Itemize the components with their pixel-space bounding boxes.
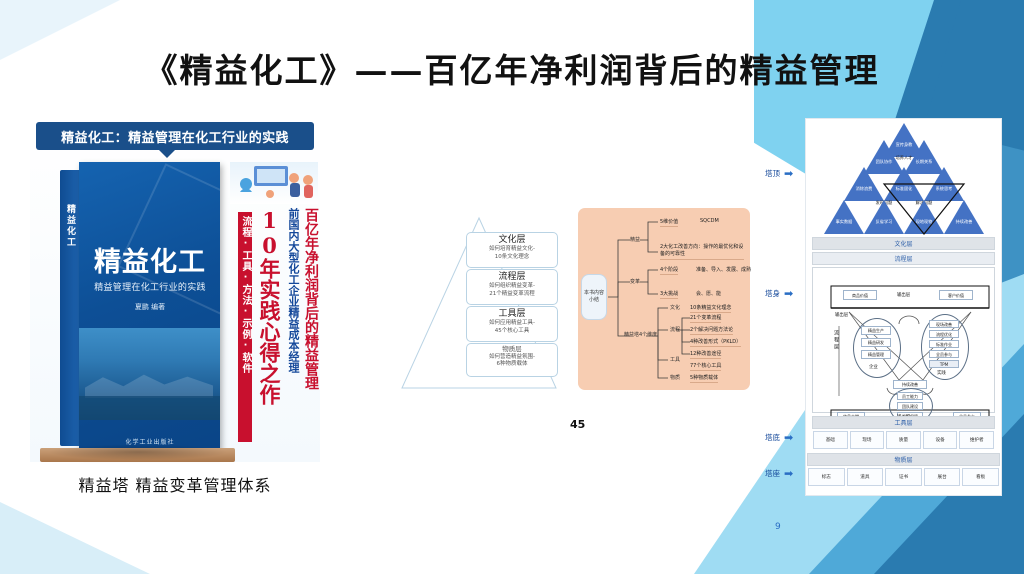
mindmap-sub-process: 流程 bbox=[670, 326, 680, 333]
mindmap-sub-material: 物质 bbox=[670, 374, 680, 381]
banner-notch-icon bbox=[158, 149, 176, 158]
book-spine-text: 精益化工 bbox=[62, 204, 78, 248]
tool-cell: 设备 bbox=[923, 431, 958, 449]
arrow-right-icon: ➡ bbox=[784, 168, 793, 179]
tower-side-label-base: 塔底 ➡ bbox=[765, 432, 793, 443]
tower-side-label-body: 塔身 ➡ bbox=[765, 288, 793, 299]
material-cell: 展台 bbox=[924, 468, 961, 486]
process-vertical-label: 流程层 bbox=[833, 330, 840, 392]
mindmap-branch-lean: 精益 bbox=[630, 236, 640, 243]
tower-side-label-text: 塔座 bbox=[765, 468, 780, 479]
arrow-right-icon: ➡ bbox=[784, 432, 793, 443]
tower-band-material: 物质层 bbox=[807, 453, 1000, 466]
pyramid-layer-line1: 如何应用精益工具- bbox=[468, 320, 556, 328]
tower-process-panel: 商品价值 输出层 客户价值 输出层 精益生产 精益研发 精益管理 企业 现场改善… bbox=[812, 267, 995, 413]
tower-band-tools: 工具层 bbox=[812, 416, 995, 429]
process-top-box-2: 客户价值 bbox=[939, 290, 973, 300]
mindmap-leaf-challenges-detail: 会、愿、能 bbox=[696, 290, 721, 298]
pyramid-layer-title: 流程层 bbox=[468, 272, 556, 283]
process-left-ellipse-title: 企业 bbox=[869, 364, 878, 370]
tower-tool-row: 基础 现场 质量 设备 维护者 bbox=[812, 431, 995, 449]
pyramid-layer-material: 物质层 如何营造精益氛围- 6种物质载体 bbox=[466, 343, 558, 377]
process-top-box-1: 商品价值 bbox=[843, 290, 877, 300]
process-right-item-1: 现场改善 bbox=[929, 320, 959, 328]
promo-red-column: 百亿年净利润背后的精益管理 bbox=[304, 208, 318, 448]
tower-side-label-text: 塔身 bbox=[765, 288, 780, 299]
mindmap-branch-tower: 精益塔4个维度 bbox=[624, 332, 658, 338]
mindmap-leaf-process-3: 4种改善形式（PKLD） bbox=[690, 338, 741, 347]
mindmap-leaf-value-detail: SQCDM bbox=[700, 218, 719, 225]
book-cover-title: 精益化工 bbox=[87, 240, 213, 279]
mindmap-sub-tools: 工具 bbox=[670, 356, 680, 363]
pyramid-layer-line2: 45个核心工具 bbox=[468, 328, 556, 336]
tower-material-row: 标志 道具 证书 展台 看板 bbox=[807, 468, 1000, 486]
page-number-book: 45 bbox=[570, 418, 585, 431]
tool-cell: 质量 bbox=[886, 431, 921, 449]
process-right-item-2: 流程优化 bbox=[929, 330, 959, 338]
book-cover: 精益化工 精益管理在化工行业的实践 夏鹏 编著 化学工业出版社 bbox=[79, 162, 220, 454]
process-right-item-4: 全员参与 bbox=[929, 350, 959, 358]
process-left-item-2: 精益研发 bbox=[861, 338, 891, 347]
mindmap-sub-culture: 文化 bbox=[670, 304, 680, 311]
mindmap-leaf-tools: 77个核心工具 bbox=[690, 362, 721, 371]
promo-headline: 10年实践心得之作 bbox=[259, 208, 280, 446]
mindmap-branch-change: 变革 bbox=[630, 278, 640, 285]
book-cover-author: 夏鹏 编著 bbox=[85, 302, 215, 312]
book-caption: 精益塔 精益变革管理体系 bbox=[30, 472, 320, 496]
process-right-item-5: TPM bbox=[929, 360, 959, 368]
promo-tag-box: 流程·工具·方法·示例·软件 bbox=[238, 212, 252, 442]
mindmap-leaf-stages-detail: 准备、导入、发展、成熟 bbox=[696, 266, 751, 274]
process-bottom-item-2: 团队建设 bbox=[897, 402, 923, 410]
material-cell: 道具 bbox=[847, 468, 884, 486]
book-spine: 精益化工 bbox=[60, 170, 80, 446]
material-cell: 证书 bbox=[885, 468, 922, 486]
tower-band-culture: 文化层 bbox=[812, 237, 995, 250]
mindmap-leaf-culture: 10条精益文化理念 bbox=[690, 304, 731, 313]
material-cell: 看板 bbox=[962, 468, 999, 486]
pyramid-layer-line1: 如何营造精益氛围- bbox=[468, 354, 556, 362]
book-3d: 精益化工 精益化工 精益管理在化工行业的实践 夏鹏 编著 化学工业出版社 bbox=[60, 162, 220, 452]
promo-illustration bbox=[230, 162, 318, 204]
process-top-label: 输出层 bbox=[897, 292, 910, 298]
mindmap-leaf-challenges: 3大挑战 bbox=[660, 290, 678, 299]
arrow-right-icon: ➡ bbox=[784, 288, 793, 299]
tower-band-process: 流程层 bbox=[812, 252, 995, 265]
pyramid-layer-culture: 文化层 如何培育精益文化- 10条文化理念 bbox=[466, 232, 558, 268]
page-number-slide: 9 bbox=[775, 522, 781, 532]
tower-side-label-top: 塔顶 ➡ bbox=[765, 168, 793, 179]
mindmap-leaf-direction-label: 2大化工改善方向： bbox=[660, 244, 703, 250]
book-promo-text: 百亿年净利润背后的精益管理 前国内大型化工企业精益成本经理 10年实践心得之作 … bbox=[226, 162, 318, 454]
mindmap-leaf-stages: 4个阶段 bbox=[660, 266, 678, 275]
book-promo-image: 精益化工： 精益管理在化工行业的实践 精益化工 精益化工 精益管理在化工行业的实… bbox=[30, 122, 320, 462]
process-left-item-3: 精益管理 bbox=[861, 350, 891, 359]
tower-side-label-text: 塔底 bbox=[765, 432, 780, 443]
pyramid-layer-title: 文化层 bbox=[468, 235, 556, 246]
tower-triangle-grid: 宣传身教 培养人才 团队协作 长期关系 消除浪费 标准固化 系统思考 发现问题 … bbox=[816, 123, 992, 239]
mindmap-leaf-process-1: 21个变革流程 bbox=[690, 314, 721, 323]
tool-cell: 现场 bbox=[850, 431, 885, 449]
mindmap-leaf-process-2: 2个解决问题方法论 bbox=[690, 326, 733, 335]
book-cover-subtitle: 精益管理在化工行业的实践 bbox=[85, 280, 215, 293]
tool-cell: 维护者 bbox=[959, 431, 994, 449]
arrow-right-icon: ➡ bbox=[784, 468, 793, 479]
pyramid-layer-title: 物质层 bbox=[468, 346, 556, 354]
pyramid-layer-line2: 21个精益变革流程 bbox=[468, 291, 556, 299]
pyramid-layer-title: 工具层 bbox=[468, 309, 556, 320]
book-cover-photo bbox=[79, 328, 220, 420]
tower-side-label-seat: 塔座 ➡ bbox=[765, 468, 793, 479]
process-bottom-item-1: 员工能力 bbox=[897, 392, 923, 400]
mindmap-leaf-material: 5种物质载体 bbox=[690, 374, 718, 383]
process-left-item-1: 精益生产 bbox=[861, 326, 891, 335]
page-title: 《精益化工》——百亿年净利润背后的精益管理 bbox=[0, 44, 1024, 92]
pyramid-layer-line1: 如何组织精益变革- bbox=[468, 283, 556, 291]
process-right-ellipse-title: 实践 bbox=[937, 370, 946, 376]
book-banner: 精益化工： 精益管理在化工行业的实践 bbox=[36, 122, 314, 150]
mindmap-diagram: 本书内容小结 精益 变革 精益塔4个维度 5维价值 SQCDM 2大化工改善方向… bbox=[578, 208, 750, 390]
process-left-label: 输出层 bbox=[835, 312, 848, 318]
pyramid-diagram: 文化层 如何培育精益文化- 10条文化理念 流程层 如何组织精益变革- 21个精… bbox=[396, 214, 562, 392]
process-diagram: 商品价值 输出层 客户价值 输出层 精益生产 精益研发 精益管理 企业 现场改善… bbox=[827, 284, 993, 426]
mindmap-leaf-direction: 2大化工改善方向：操作的最优化和设备的可靠性 bbox=[660, 244, 744, 260]
promo-blue-column: 前国内大型化工企业精益成本经理 bbox=[288, 208, 299, 448]
mindmap-root: 本书内容小结 bbox=[581, 274, 607, 320]
book-shadow bbox=[48, 444, 228, 460]
book-banner-subtitle: 精益管理在化工行业的实践 bbox=[128, 127, 289, 146]
pyramid-layer-line1: 如何培育精益文化- bbox=[468, 246, 556, 254]
tool-cell: 基础 bbox=[813, 431, 848, 449]
pyramid-layer-tools: 工具层 如何应用精益工具- 45个核心工具 bbox=[466, 306, 558, 342]
tower-side-label-text: 塔顶 bbox=[765, 168, 780, 179]
pyramid-layer-line2: 6种物质载体 bbox=[468, 361, 556, 369]
pyramid-layer-process: 流程层 如何组织精益变革- 21个精益变革流程 bbox=[466, 269, 558, 305]
book-banner-title: 精益化工： bbox=[61, 127, 128, 146]
lean-tower-diagram: 宣传身教 培养人才 团队协作 长期关系 消除浪费 标准固化 系统思考 发现问题 … bbox=[805, 118, 1002, 496]
pyramid-layer-line2: 10条文化理念 bbox=[468, 254, 556, 262]
mindmap-leaf-process-4: 12种改善途径 bbox=[690, 350, 721, 359]
process-right-item-3: 标准作业 bbox=[929, 340, 959, 348]
mindmap-leaf-value: 5维价值 bbox=[660, 218, 678, 227]
material-cell: 标志 bbox=[808, 468, 845, 486]
